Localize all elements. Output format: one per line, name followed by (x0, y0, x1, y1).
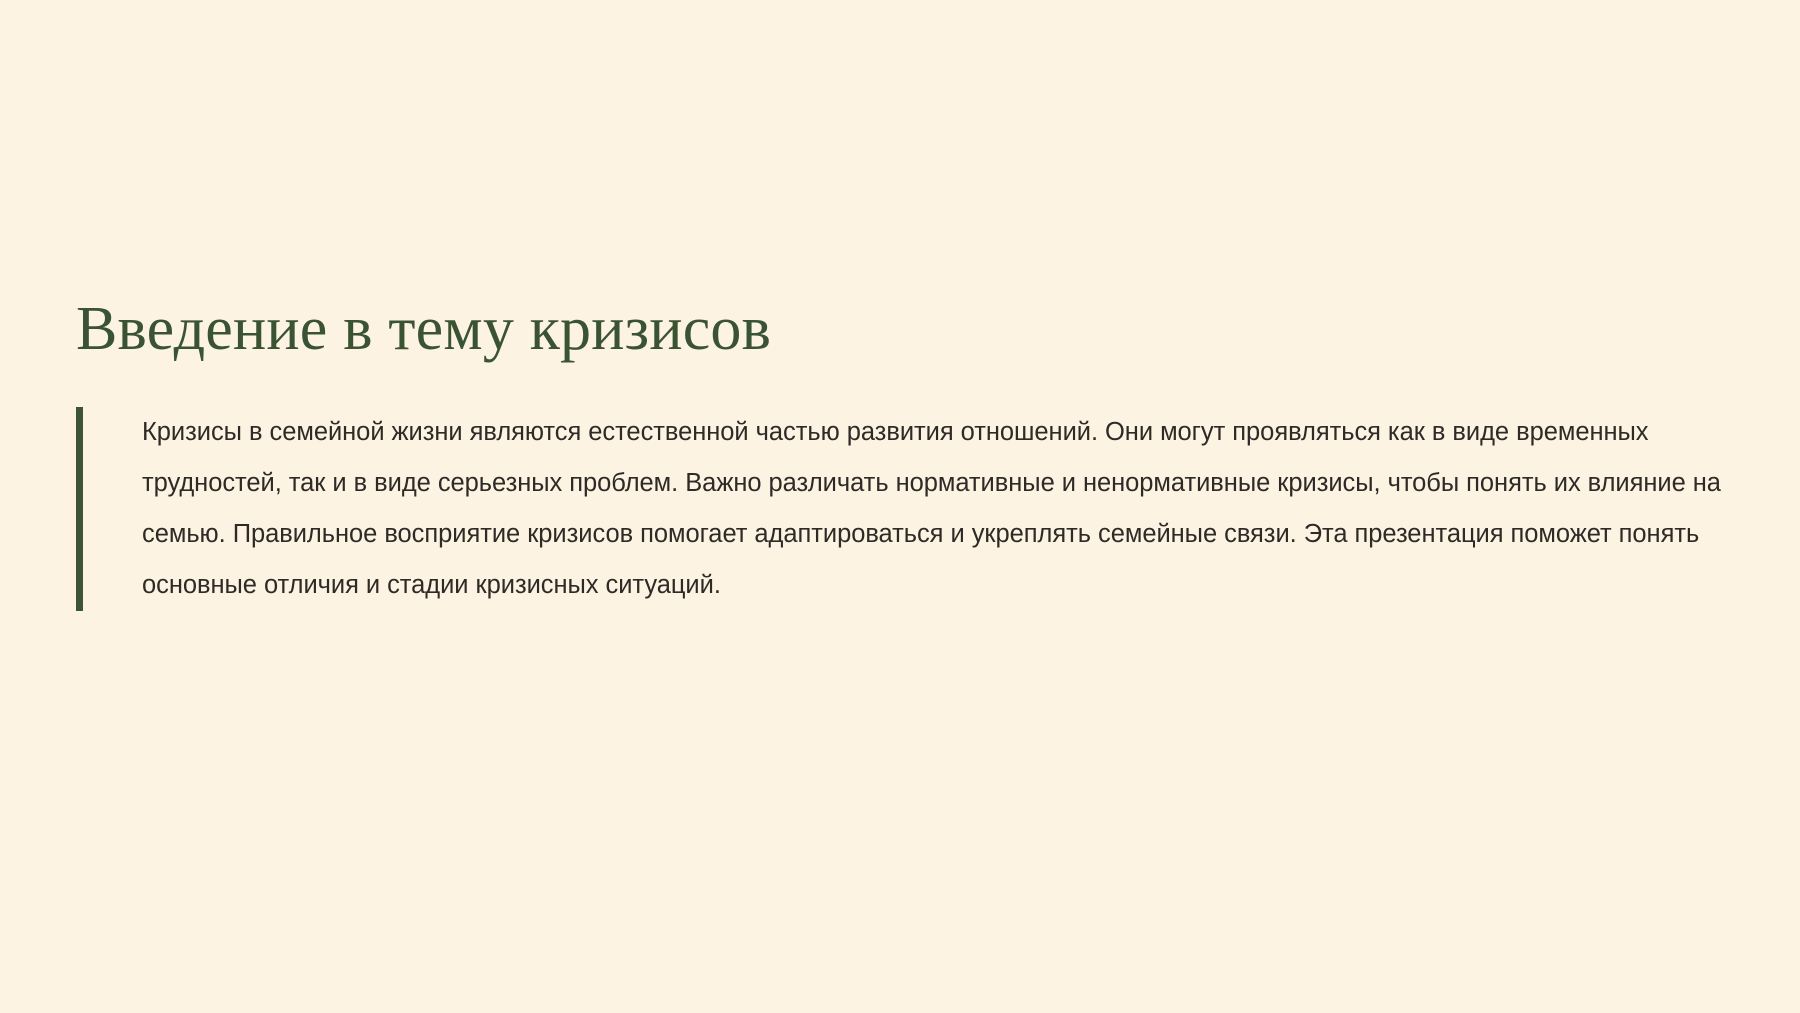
presentation-slide: Введение в тему кризисов Кризисы в семей… (0, 0, 1800, 1013)
body-block: Кризисы в семейной жизни являются естест… (76, 407, 1756, 611)
slide-content: Введение в тему кризисов Кризисы в семей… (76, 296, 1756, 611)
accent-bar (76, 407, 83, 611)
body-paragraph: Кризисы в семейной жизни являются естест… (83, 407, 1742, 611)
page-title: Введение в тему кризисов (76, 296, 1756, 363)
